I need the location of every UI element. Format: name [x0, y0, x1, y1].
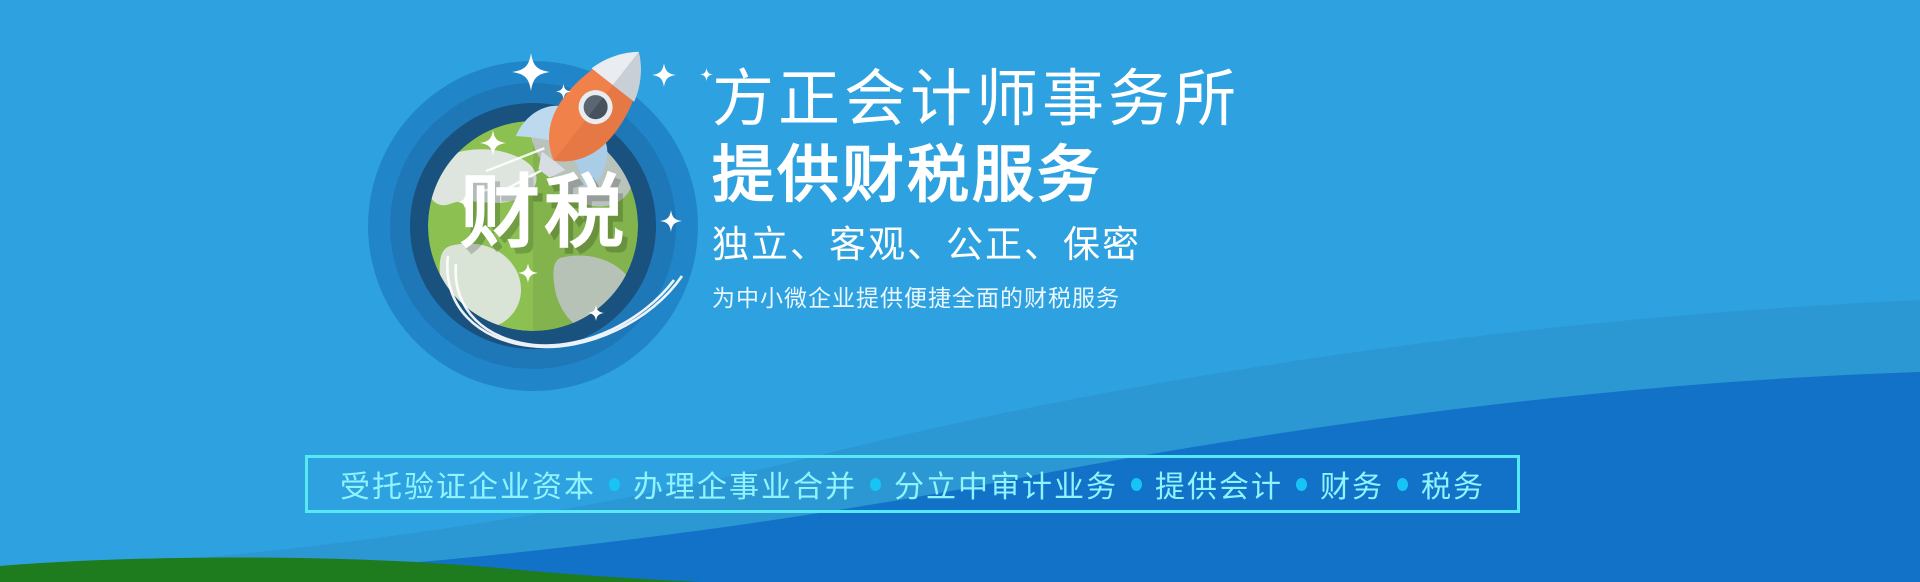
service-item: 办理企事业合并: [633, 462, 857, 506]
bullet-dot-icon: [1296, 478, 1307, 491]
headline-secondary: 提供财税服务: [712, 138, 1572, 214]
bullet-dot-icon: [1131, 478, 1142, 491]
service-item: 提供会计: [1155, 462, 1283, 506]
bullet-dot-icon: [609, 478, 620, 491]
headline-block: 方正会计师事务所 提供财税服务 独立、客观、公正、保密 为中小微企业提供便捷全面…: [712, 62, 1572, 316]
service-item: 分立中审计业务: [894, 462, 1118, 506]
globe-emblem: 财税: [330, 18, 730, 408]
headline-primary: 方正会计师事务所: [712, 62, 1572, 138]
service-item: 税务: [1421, 462, 1485, 506]
service-item: 财务: [1320, 462, 1384, 506]
bullet-dot-icon: [1397, 478, 1408, 491]
hill-silhouette: [0, 558, 700, 582]
marketing-banner: 财税 方正会计师事务所 提供财税服务 独立、客观、公正、保密 为中小微企业提供便…: [0, 0, 1920, 582]
tagline: 为中小微企业提供便捷全面的财税服务: [712, 280, 1572, 316]
service-item: 受托验证企业资本: [340, 462, 596, 506]
services-list: 受托验证企业资本 办理企事业合并 分立中审计业务 提供会计 财务 税务: [340, 462, 1485, 506]
wave-light: [0, 300, 1920, 582]
services-bar: 受托验证企业资本 办理企事业合并 分立中审计业务 提供会计 财务 税务: [305, 455, 1520, 513]
emblem-wordmark: 财税: [394, 148, 694, 264]
value-proposition: 独立、客观、公正、保密: [712, 218, 1572, 272]
bullet-dot-icon: [870, 478, 881, 491]
